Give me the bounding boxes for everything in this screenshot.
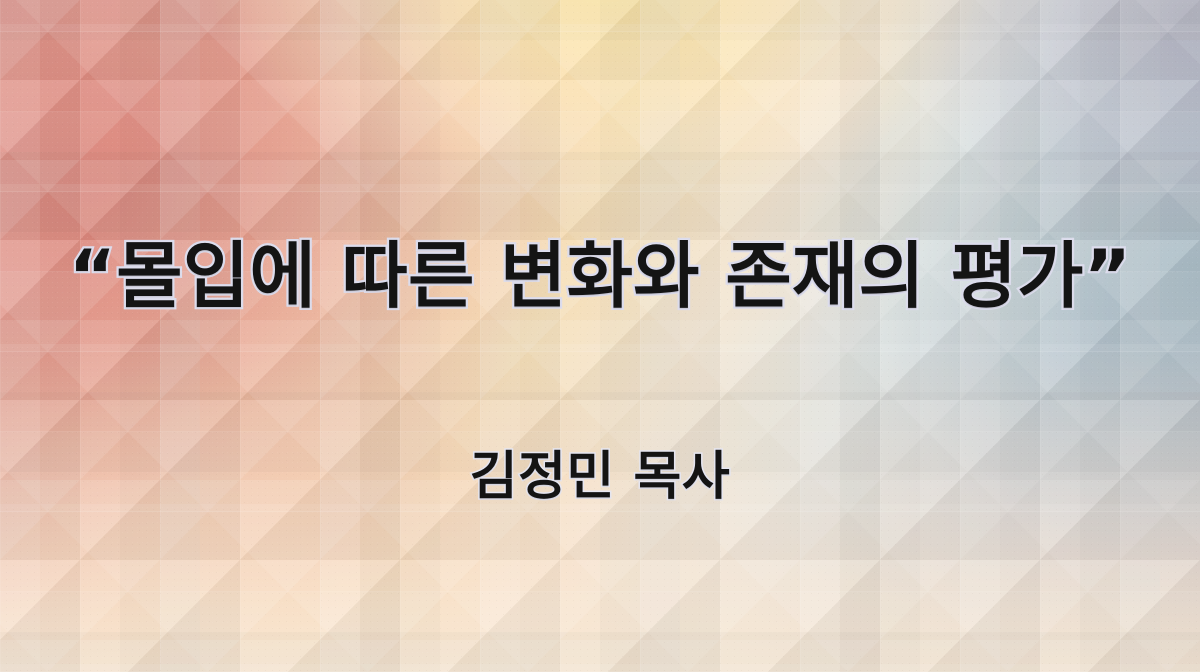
slide-subtitle-speaker: 김정민 목사: [0, 448, 1200, 506]
slide-title: “몰입에 따른 변화와 존재의 평가”: [0, 238, 1200, 316]
title-slide: “몰입에 따른 변화와 존재의 평가” 김정민 목사: [0, 0, 1200, 672]
slide-content: “몰입에 따른 변화와 존재의 평가” 김정민 목사: [0, 0, 1200, 672]
